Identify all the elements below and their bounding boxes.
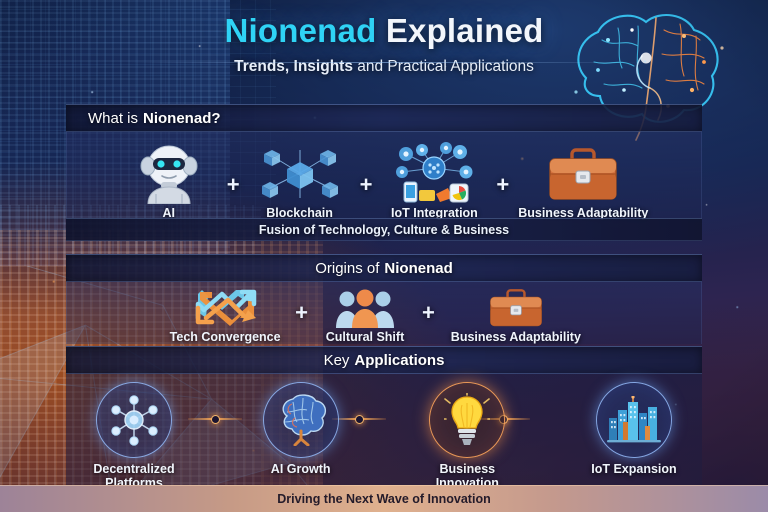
app-ai-growth-label: AI Growth — [271, 462, 331, 476]
briefcase-icon — [484, 288, 548, 328]
separator-plus-4: + — [289, 300, 314, 344]
section-what-is-heading-regular: What is — [88, 110, 138, 127]
separator-plus-1: + — [221, 172, 246, 220]
title-accent: Nionenad — [225, 12, 377, 49]
infographic-canvas: Nionenad Explained Trends, Insights and … — [0, 0, 768, 512]
section-origins-header: Origins ofNionenad — [66, 254, 702, 282]
app-iot-expansion: IoT Expansion — [580, 382, 688, 476]
section-what-is: What isNionenad? — [66, 104, 702, 220]
page-title: Nionenad Explained — [0, 14, 768, 49]
footer-text: Driving the Next Wave of Innovation — [277, 492, 490, 506]
item-ai: AI — [117, 142, 221, 220]
section-key-applications-header: KeyApplications — [66, 346, 702, 374]
app-iot-expansion-label: IoT Expansion — [591, 462, 676, 476]
app-node-circle — [429, 382, 505, 458]
section-key-applications-heading-bold: Applications — [354, 352, 444, 369]
section-origins-heading-regular: Origins of — [315, 260, 379, 277]
footer-bar: Driving the Next Wave of Innovation — [0, 485, 768, 512]
briefcase-icon — [544, 146, 622, 204]
section-what-is-body: AI + — [66, 132, 702, 220]
node-connector-1 — [188, 418, 242, 420]
app-ai-growth: AI Growth — [247, 382, 355, 476]
brain-icon — [273, 394, 329, 446]
item-cultural-shift-label: Cultural Shift — [326, 330, 404, 344]
title-plain: Explained — [386, 12, 544, 49]
app-business-innovation: Business Innovation — [413, 382, 521, 490]
item-tech-convergence: Tech Convergence — [161, 286, 289, 344]
lightbulb-icon — [444, 393, 490, 447]
app-node-circle — [596, 382, 672, 458]
section-key-applications-body: Decentralized Platforms — [66, 374, 702, 496]
app-node-circle — [263, 382, 339, 458]
people-group-icon — [334, 288, 396, 328]
section-what-is-header: What isNionenad? — [66, 104, 702, 132]
connector-dot — [211, 415, 220, 424]
app-node-circle — [96, 382, 172, 458]
item-iot-integration: IoT Integration — [378, 142, 490, 220]
section-what-is-heading-bold: Nionenad? — [143, 110, 221, 127]
section-origins-heading-bold: Nionenad — [384, 260, 452, 277]
separator-plus-5: + — [416, 300, 441, 344]
subtitle-bold: Trends, Insights — [234, 58, 353, 75]
item-business-adaptability-2-label: Business Adaptability — [451, 330, 581, 344]
item-cultural-shift: Cultural Shift — [314, 286, 416, 344]
fusion-caption-text: Fusion of Technology, Culture & Business — [259, 223, 509, 237]
section-key-applications: KeyApplications — [66, 346, 702, 496]
section-origins: Origins ofNionenad — [66, 254, 702, 344]
item-business-adaptability-2: Business Adaptability — [441, 286, 591, 344]
separator-plus-2: + — [354, 172, 379, 220]
item-blockchain: Blockchain — [246, 142, 354, 220]
separator-plus-3: + — [490, 172, 515, 220]
network-hub-icon — [108, 394, 160, 446]
crossing-arrows-icon — [192, 288, 258, 328]
title-divider — [128, 62, 640, 63]
node-connector-2 — [332, 418, 386, 420]
city-skyline-icon — [605, 396, 663, 444]
fusion-caption-bar: Fusion of Technology, Culture & Business — [66, 218, 702, 241]
title-block: Nionenad Explained Trends, Insights and … — [0, 14, 768, 76]
item-tech-convergence-label: Tech Convergence — [170, 330, 281, 344]
section-origins-body: Tech Convergence + — [66, 282, 702, 344]
subtitle-rest: and Practical Applications — [357, 58, 534, 75]
app-decentralized-platforms: Decentralized Platforms — [80, 382, 188, 490]
page-subtitle: Trends, Insights and Practical Applicati… — [0, 58, 768, 76]
connector-dot — [355, 415, 364, 424]
iot-network-icon — [386, 142, 482, 204]
blockchain-cubes-icon — [256, 142, 344, 204]
item-business-adaptability: Business Adaptability — [515, 142, 651, 220]
robot-head-icon — [134, 142, 204, 204]
section-key-applications-heading-regular: Key — [324, 352, 350, 369]
